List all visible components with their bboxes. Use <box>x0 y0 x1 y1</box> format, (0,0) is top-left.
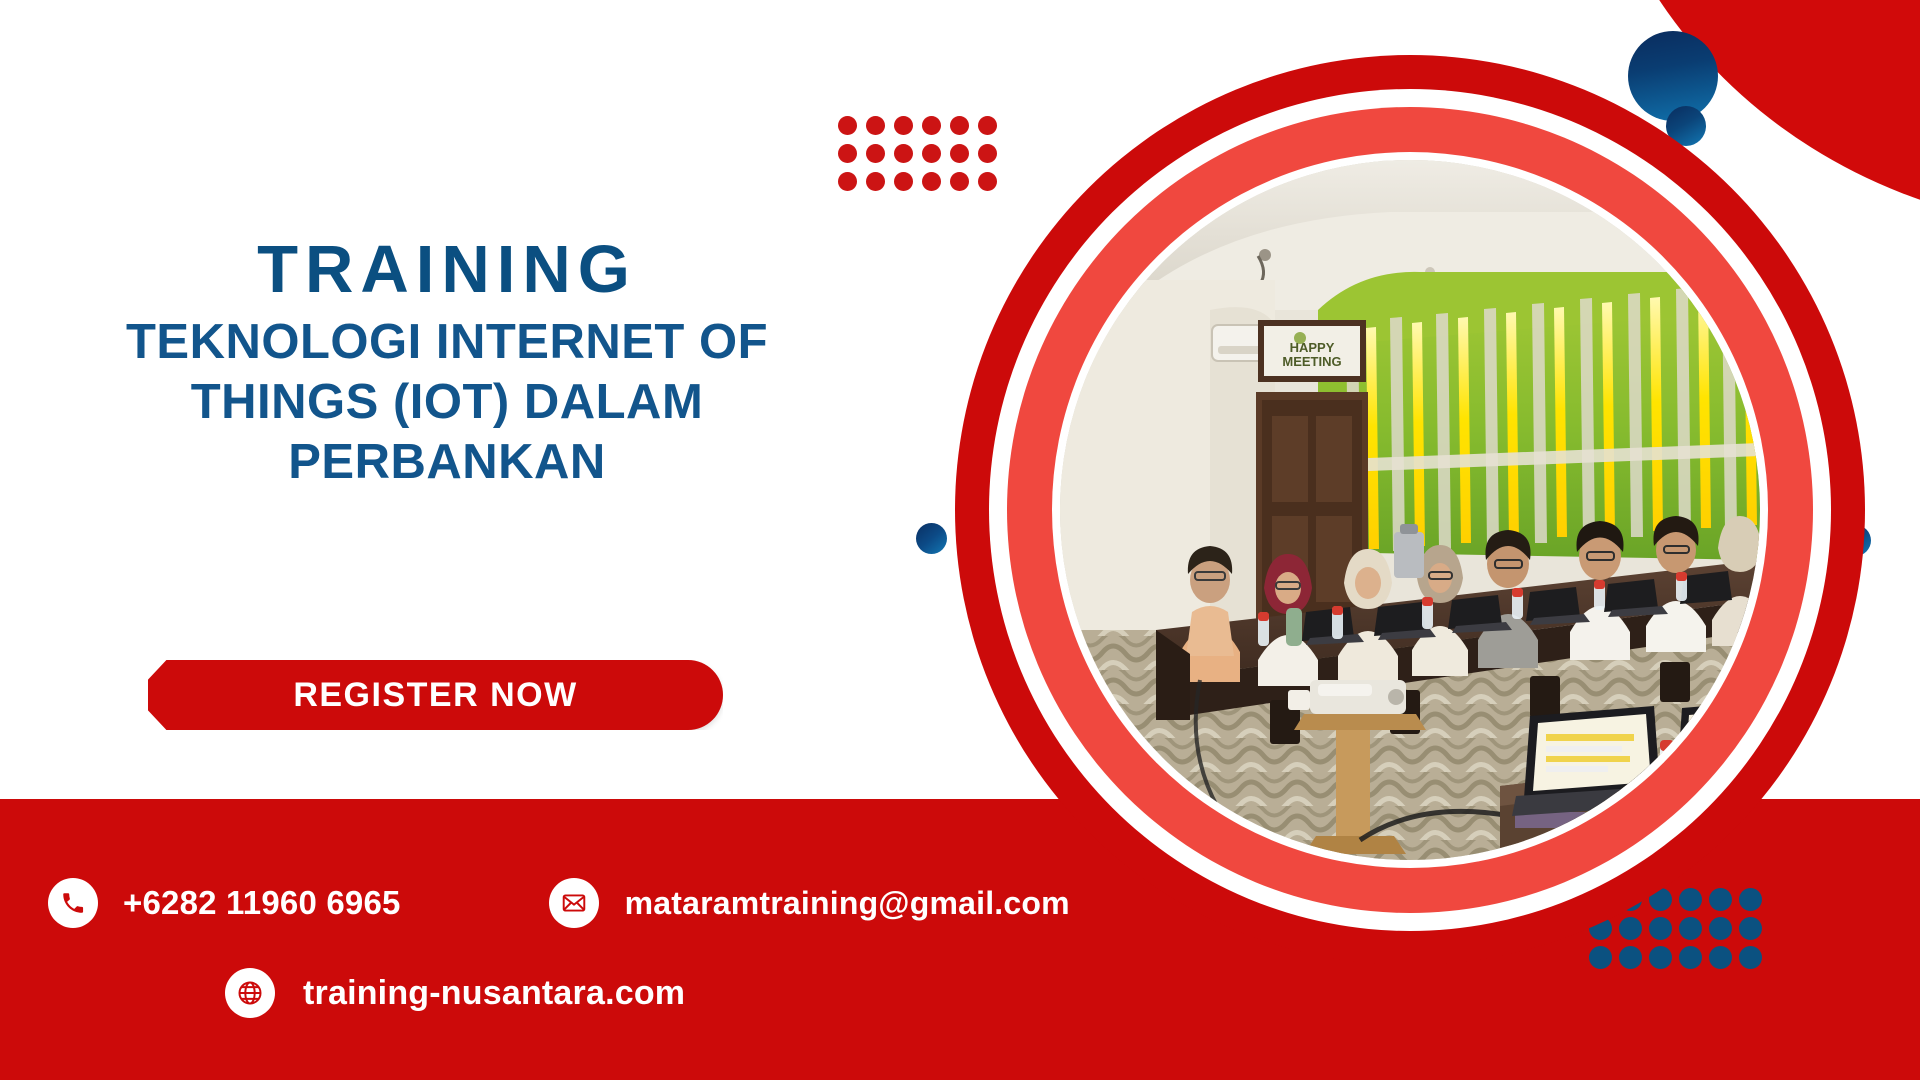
title-line-2: THINGS (IOT) DALAM <box>62 373 832 433</box>
dot <box>894 144 913 163</box>
eyebrow-training: TRAINING <box>62 235 832 305</box>
dot <box>1589 946 1612 969</box>
svg-text:MEETING: MEETING <box>1282 354 1341 369</box>
register-now-button[interactable]: REGISTER NOW <box>148 660 723 730</box>
contact-line-website: training-nusantara.com <box>225 968 685 1018</box>
photo-medallion: HAPPY MEETING <box>955 55 1865 965</box>
phone-number[interactable]: +6282 11960 6965 <box>123 884 401 922</box>
dot <box>866 172 885 191</box>
headline-block: TRAINING TEKNOLOGI INTERNET OF THINGS (I… <box>62 235 832 493</box>
dot <box>1679 917 1702 940</box>
medallion-ring-white-inner: HAPPY MEETING <box>1052 152 1768 868</box>
promo-banner: TRAINING TEKNOLOGI INTERNET OF THINGS (I… <box>0 0 1920 1080</box>
title-line-3: PERBANKAN <box>62 433 832 493</box>
dot <box>1619 946 1642 969</box>
dot <box>1649 917 1672 940</box>
dot <box>838 172 857 191</box>
dot <box>922 172 941 191</box>
dot <box>1739 888 1762 911</box>
envelope-icon <box>549 878 599 928</box>
dot <box>922 116 941 135</box>
dot <box>950 116 969 135</box>
medallion-ring-white-outer: HAPPY MEETING <box>989 89 1831 931</box>
dot <box>1709 917 1732 940</box>
dot <box>1739 917 1762 940</box>
dot <box>978 144 997 163</box>
website-url[interactable]: training-nusantara.com <box>303 974 685 1013</box>
dot <box>1619 917 1642 940</box>
dot <box>950 144 969 163</box>
dot <box>978 116 997 135</box>
blue-gradient-dot-left <box>916 523 947 554</box>
dot <box>1649 946 1672 969</box>
dot <box>1679 946 1702 969</box>
phone-icon <box>48 878 98 928</box>
svg-text:HAPPY: HAPPY <box>1290 340 1335 355</box>
dot <box>866 144 885 163</box>
dot <box>838 144 857 163</box>
dot <box>950 172 969 191</box>
dot <box>894 172 913 191</box>
medallion-ring-salmon: HAPPY MEETING <box>1007 107 1813 913</box>
dot <box>1739 946 1762 969</box>
dot <box>922 144 941 163</box>
contact-line-primary: +6282 11960 6965 mataramtraining@gmail.c… <box>48 878 1070 928</box>
dot <box>1709 946 1732 969</box>
dot <box>1679 888 1702 911</box>
dot <box>866 116 885 135</box>
dot <box>838 116 857 135</box>
dot <box>1709 888 1732 911</box>
globe-icon <box>225 968 275 1018</box>
email-group: mataramtraining@gmail.com <box>549 878 1070 928</box>
red-dot-grid <box>838 116 1002 196</box>
blue-gradient-circle-large <box>1628 31 1718 121</box>
dot <box>978 172 997 191</box>
dot <box>894 116 913 135</box>
training-photo: HAPPY MEETING <box>1060 160 1760 860</box>
title-line-1: TEKNOLOGI INTERNET OF <box>62 313 832 373</box>
email-address[interactable]: mataramtraining@gmail.com <box>625 885 1070 922</box>
